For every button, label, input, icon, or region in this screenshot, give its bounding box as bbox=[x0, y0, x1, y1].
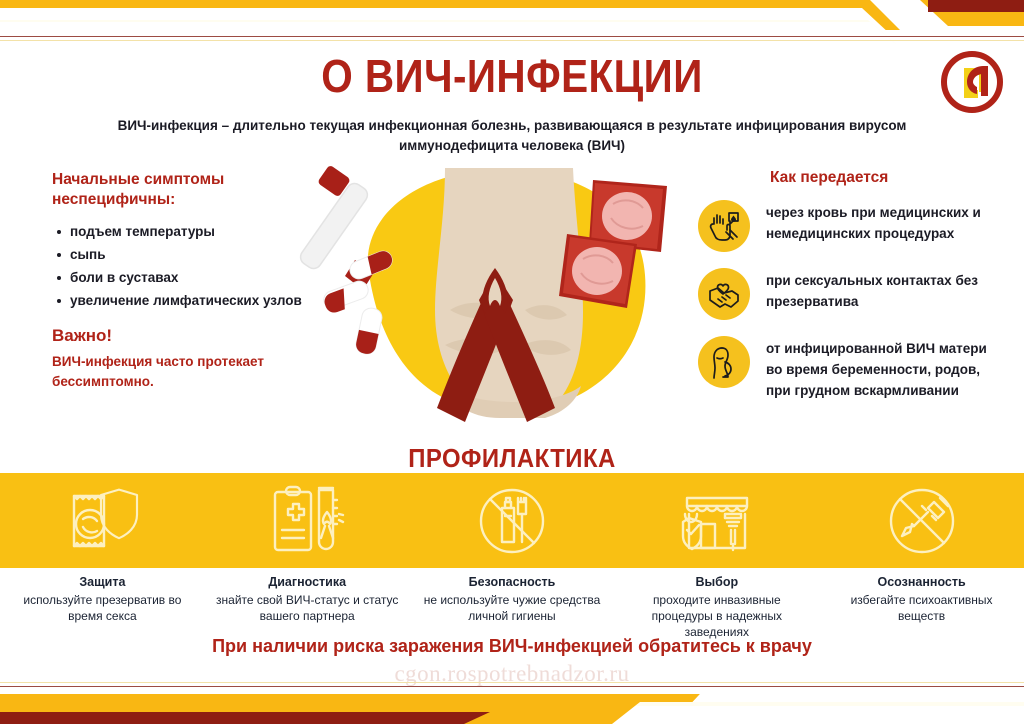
transmission-heading: Как передается bbox=[698, 168, 998, 188]
transmission-item: при сексуальных контактах без презервати… bbox=[698, 268, 998, 320]
transmission-text: при сексуальных контактах без презервати… bbox=[766, 268, 998, 312]
list-item: боли в суставах bbox=[70, 268, 302, 288]
prevention-caption-body: знайте свой ВИЧ-статус и статус вашего п… bbox=[213, 592, 402, 624]
hands-with-red-ribbon-illustration bbox=[295, 160, 700, 450]
transmission-item: через кровь при медицинских и немедицинс… bbox=[698, 200, 998, 252]
call-to-action: При наличии риска заражения ВИЧ-инфекцие… bbox=[0, 634, 1024, 658]
prevention-caption-body: используйте презерватив во время секса bbox=[8, 592, 197, 624]
prevention-caption-title: Безопасность bbox=[418, 574, 607, 590]
list-item: подъем температуры bbox=[70, 222, 302, 242]
prevention-caption: Диагностика знайте свой ВИЧ-статус и ста… bbox=[205, 574, 410, 640]
prevention-caption-body: не используйте чужие средства личной гиг… bbox=[418, 592, 607, 624]
trusted-clinic-icon bbox=[614, 473, 819, 568]
no-shared-hygiene-icon bbox=[410, 473, 615, 568]
page-title: О ВИЧ-ИНФЕКЦИИ bbox=[61, 50, 962, 102]
list-item: сыпь bbox=[70, 245, 302, 265]
important-body: ВИЧ-инфекция часто протекает бессимптомн… bbox=[52, 352, 302, 392]
important-heading: Важно! bbox=[52, 325, 302, 347]
condom-shield-icon bbox=[0, 473, 205, 568]
hand-blood-syringe-icon bbox=[698, 200, 750, 252]
symptoms-heading: Начальные симптомы неспецифичны: bbox=[52, 170, 302, 210]
prevention-caption: Безопасность не используйте чужие средст… bbox=[410, 574, 615, 640]
prevention-caption: Осознанность избегайте психоактивных вещ… bbox=[819, 574, 1024, 640]
prevention-caption: Выбор проходите инвазивные процедуры в н… bbox=[614, 574, 819, 640]
symptoms-list: подъем температуры сыпь боли в суставах … bbox=[52, 222, 302, 311]
clipboard-testtube-ribbon-icon bbox=[205, 473, 410, 568]
prevention-caption-body: проходите инвазивные процедуры в надежны… bbox=[622, 592, 811, 640]
prevention-caption-title: Защита bbox=[8, 574, 197, 590]
top-rule-cream bbox=[0, 40, 1024, 41]
rospotrebnadzor-logo bbox=[938, 48, 1006, 116]
transmission-item: от инфицированной ВИЧ матери во время бе… bbox=[698, 336, 998, 401]
prevention-caption: Защита используйте презерватив во время … bbox=[0, 574, 205, 640]
pregnant-woman-icon bbox=[698, 336, 750, 388]
top-decorative-banner bbox=[0, 0, 1024, 44]
no-drugs-syringe-icon bbox=[819, 473, 1024, 568]
transmission-text: от инфицированной ВИЧ матери во время бе… bbox=[766, 336, 998, 401]
top-rule-maroon bbox=[0, 36, 1024, 37]
banner-maroon-block bbox=[928, 0, 1024, 12]
transmission-column: Как передается через кровь при медицинск… bbox=[698, 168, 998, 417]
list-item: увеличение лимфатических узлов bbox=[70, 291, 302, 311]
prevention-title: ПРОФИЛАКТИКА bbox=[41, 443, 983, 473]
handshake-heart-icon bbox=[698, 268, 750, 320]
lead-paragraph: ВИЧ-инфекция – длительно текущая инфекци… bbox=[70, 116, 954, 156]
prevention-caption-title: Диагностика bbox=[213, 574, 402, 590]
transmission-text: через кровь при медицинских и немедицинс… bbox=[766, 200, 998, 244]
prevention-caption-title: Осознанность bbox=[827, 574, 1016, 590]
poster-root: О ВИЧ-ИНФЕКЦИИ ВИЧ-инфекция – длительно … bbox=[0, 0, 1024, 724]
prevention-icons-row bbox=[0, 473, 1024, 568]
prevention-caption-body: избегайте психоактивных веществ bbox=[827, 592, 1016, 624]
symptoms-column: Начальные симптомы неспецифичны: подъем … bbox=[52, 170, 302, 392]
bottom-decorative-banner bbox=[0, 680, 1024, 724]
prevention-captions-row: Защита используйте презерватив во время … bbox=[0, 574, 1024, 640]
prevention-caption-title: Выбор bbox=[622, 574, 811, 590]
